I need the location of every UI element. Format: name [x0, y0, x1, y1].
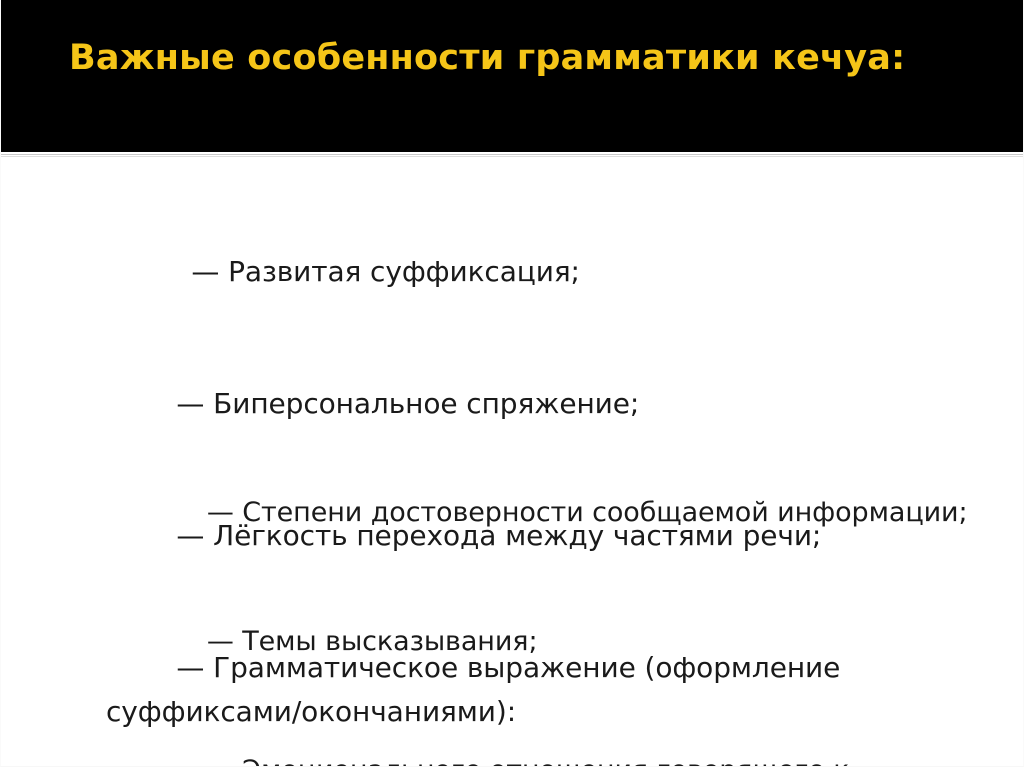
list-item-text: Темы высказывания; [234, 626, 538, 657]
em-dash-icon: — [207, 755, 234, 767]
list-item-text: Эмоционального отношения говорящего к со… [139, 755, 858, 767]
list-item-text: Биперсональное спряжение; [204, 387, 639, 420]
list-item: — Развитая суффиксация; [1, 206, 1001, 338]
list-item-text: Степени достоверности сообщаемой информа… [234, 497, 968, 528]
list-item: — Эмоционального отношения говорящего к … [1, 706, 1001, 767]
page-title: Важные особенности грамматики кечуа: [69, 36, 969, 80]
slide-body: — Развитая суффиксация; — Биперсональное… [1, 158, 1024, 767]
sub-bullet-list: — Степени достоверности сообщаемой инфор… [1, 448, 1001, 767]
list-item: — Темы высказывания; [1, 577, 1001, 706]
em-dash-icon: — [207, 497, 234, 528]
slide: Важные особенности грамматики кечуа: — Р… [0, 0, 1024, 767]
em-dash-icon: — [207, 626, 234, 657]
em-dash-icon: — [176, 387, 204, 420]
list-item-text: Развитая суффиксация; [219, 255, 580, 288]
list-item: — Степени достоверности сообщаемой инфор… [1, 448, 1001, 577]
em-dash-icon: — [191, 255, 219, 288]
